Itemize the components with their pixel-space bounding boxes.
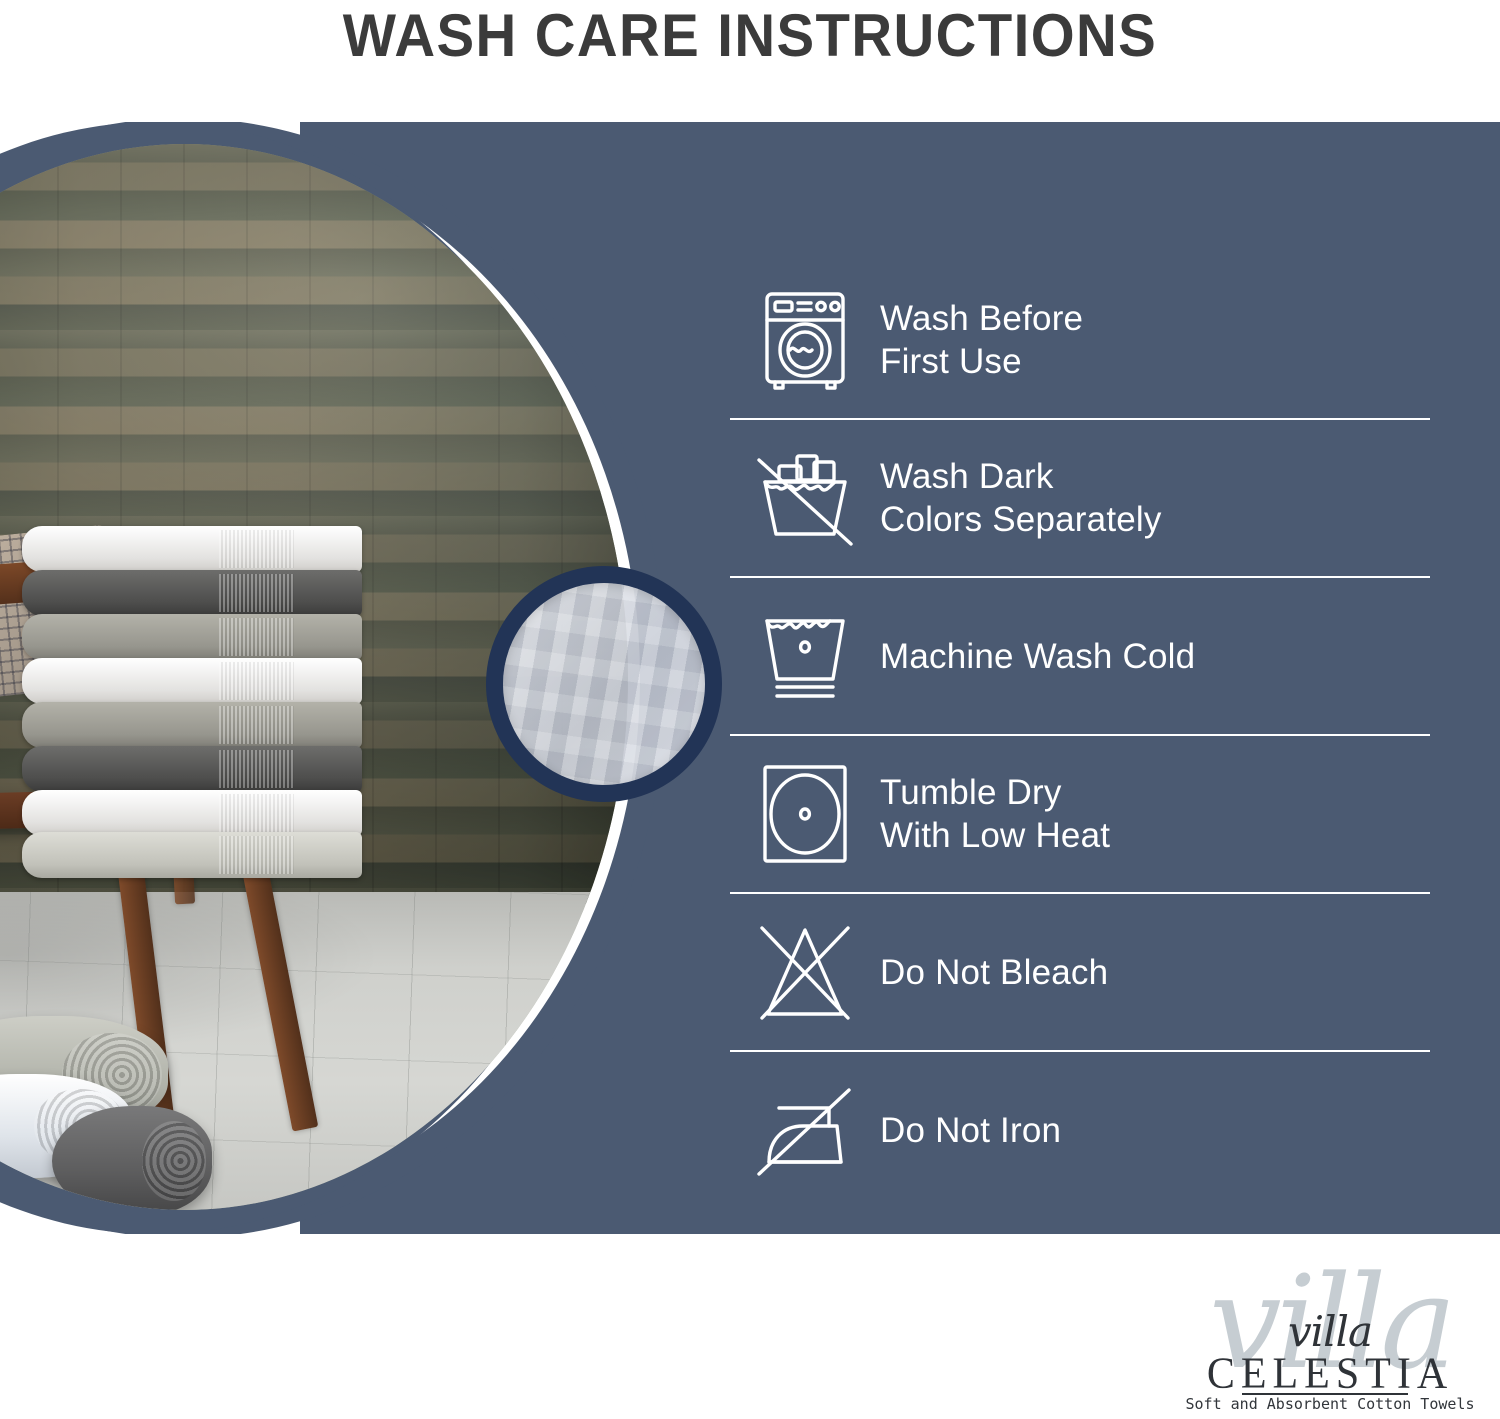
towel-border-band [219,706,294,744]
care-panel: Wash Before First Use Wash Dark Colors S… [0,122,1500,1234]
folded-towel [22,658,362,704]
instruction-label: Wash Dark Colors Separately [880,455,1162,541]
instruction-label: Tumble Dry With Low Heat [880,771,1110,857]
instruction-label: Wash Before First Use [880,297,1083,383]
instruction-row-machine-wash-cold[interactable]: Machine Wash Cold [730,578,1430,736]
instruction-label: Machine Wash Cold [880,635,1195,678]
instruction-row-wash-dark-colors-separately[interactable]: Wash Dark Colors Separately [730,420,1430,578]
instruction-list: Wash Before First Use Wash Dark Colors S… [730,262,1430,1208]
folded-towel [22,702,362,748]
do-not-bleach-icon [730,920,880,1024]
logo-tagline: Soft and Absorbent Cotton Towels [1180,1394,1480,1414]
washing-machine-icon [730,288,880,392]
towel-border-band [219,836,294,874]
instruction-row-do-not-iron[interactable]: Do Not Iron [730,1052,1430,1208]
logo-wordmark-celestia: CELESTIA [1180,1351,1480,1397]
wash-tub-cold-icon [730,607,880,705]
brand-logo: villa villa CELESTIA Soft and Absorbent … [1180,1262,1480,1417]
instruction-label: Do Not Iron [880,1109,1061,1152]
towel-border-band [219,530,294,568]
folded-towel [22,570,362,616]
instruction-label: Do Not Bleach [880,951,1108,994]
towel-border-band [219,618,294,656]
rolled-towel [52,1106,212,1210]
logo-script-villa: villa [1180,1310,1480,1354]
folded-towel [22,832,362,878]
folded-towel [22,614,362,660]
towel-border-band [219,794,294,832]
folded-towel-stack [22,526,362,878]
towel-roll-spiral [142,1121,206,1200]
folded-towel [22,526,362,572]
do-not-iron-icon [730,1078,880,1182]
towel-border-band [219,574,294,612]
magnifier-lens [486,566,722,802]
magnified-texture [503,583,705,785]
page-title: WASH CARE INSTRUCTIONS [45,2,1455,70]
folded-towel [22,746,362,792]
towel-border-band [219,662,294,700]
no-laundry-basket-icon [730,448,880,548]
instruction-row-do-not-bleach[interactable]: Do Not Bleach [730,894,1430,1052]
instruction-row-tumble-dry-with-low-heat[interactable]: Tumble Dry With Low Heat [730,736,1430,894]
folded-towel [22,790,362,836]
tumble-dry-low-icon [730,761,880,867]
towel-border-band [219,750,294,788]
instruction-row-wash-before-first-use[interactable]: Wash Before First Use [730,262,1430,420]
